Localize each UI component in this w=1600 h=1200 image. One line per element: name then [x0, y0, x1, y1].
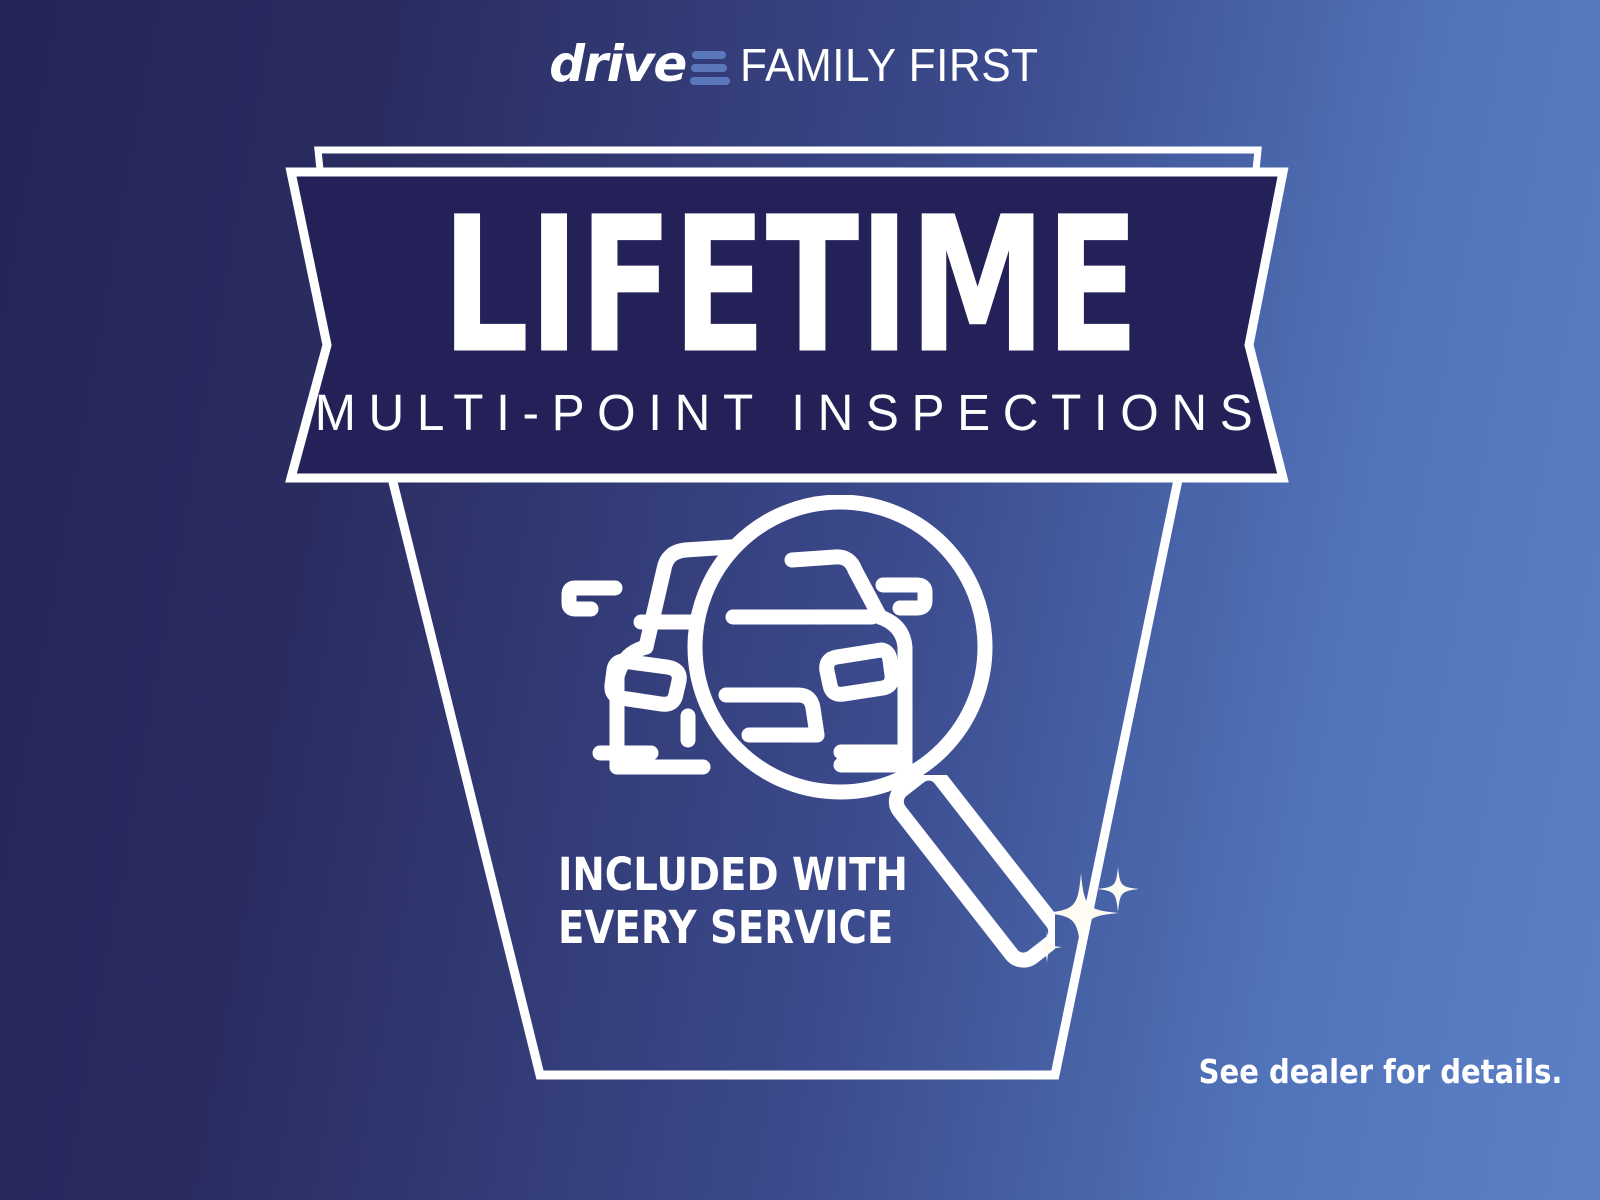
sparkle-star-icon	[1032, 931, 1062, 963]
car-front-magnified-icon	[726, 557, 925, 765]
sparkle-star-icon	[1044, 873, 1119, 954]
sparkle-group	[1015, 855, 1145, 970]
sparkle-star-icon	[1097, 867, 1139, 912]
disclaimer-text: See dealer for details.	[1198, 1052, 1562, 1091]
page-title: LIFETIME	[441, 196, 1138, 377]
car-inspection-icon	[545, 495, 1025, 805]
included-line-2: EVERY SERVICE	[558, 901, 908, 954]
promo-graphic: drive FAMILY FIRST LIFETIME MULTI-POINT …	[0, 0, 1600, 1200]
banner-text-block: LIFETIME MULTI-POINT INSPECTIONS	[290, 170, 1290, 480]
brand-logo: drive FAMILY FIRST	[0, 30, 1600, 100]
included-copy: INCLUDED WITH EVERY SERVICE	[558, 848, 908, 954]
logo-wordmark: drive	[549, 39, 686, 89]
banner-subtitle: MULTI-POINT INSPECTIONS	[315, 383, 1266, 442]
logo-tagline: FAMILY FIRST	[740, 42, 1039, 88]
three-stacked-bars-icon	[690, 51, 730, 85]
included-line-1: INCLUDED WITH	[558, 848, 908, 901]
